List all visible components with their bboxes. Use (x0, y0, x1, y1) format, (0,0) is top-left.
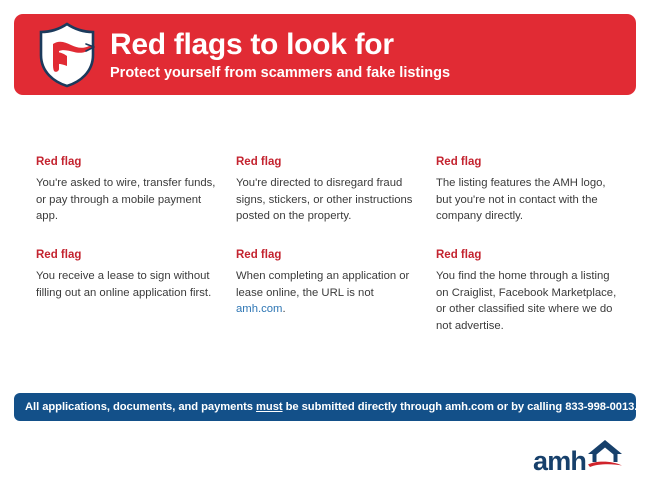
red-flag-grid: Red flag You're asked to wire, transfer … (36, 155, 626, 335)
red-flag-heading: Red flag (36, 248, 219, 263)
shield-flag-icon (36, 22, 98, 88)
red-flag-item-4: Red flag You receive a lease to sign wit… (36, 248, 219, 335)
banner-text-block: Red flags to look for Protect yourself f… (110, 27, 450, 83)
red-flag-body: You find the home through a listing on C… (436, 268, 619, 335)
red-flag-item-3: Red flag The listing features the AMH lo… (436, 155, 619, 225)
page-title: Red flags to look for (110, 29, 450, 61)
red-flag-heading: Red flag (36, 155, 219, 170)
house-roof-icon (586, 437, 624, 474)
header-banner: Red flags to look for Protect yourself f… (14, 14, 636, 95)
red-flag-body: You're asked to wire, transfer funds, or… (36, 175, 219, 225)
footer-text-start: All applications, documents, and payment… (25, 401, 256, 413)
red-flag-item-1: Red flag You're asked to wire, transfer … (36, 155, 219, 225)
red-flag-body: When completing an application or lease … (236, 268, 419, 318)
red-flag-heading: Red flag (236, 155, 419, 170)
red-flag-item-2: Red flag You're directed to disregard fr… (236, 155, 419, 225)
amh-wordmark: amh (533, 448, 586, 475)
red-flag-body: You're directed to disregard fraud signs… (236, 175, 419, 225)
red-flag-body-text-start: When completing an application or lease … (236, 270, 409, 299)
red-flag-item-5: Red flag When completing an application … (236, 248, 419, 335)
page-subtitle: Protect yourself from scammers and fake … (110, 65, 450, 82)
footer-notice-bar: All applications, documents, and payment… (14, 393, 636, 421)
footer-emphasis: must (256, 401, 283, 413)
red-flag-body-text-end: . (282, 303, 285, 315)
red-flag-heading: Red flag (436, 248, 619, 263)
amh-logo: amh (533, 437, 628, 475)
red-flag-heading: Red flag (236, 248, 419, 263)
red-flag-body: The listing features the AMH logo, but y… (436, 175, 619, 225)
red-flag-heading: Red flag (436, 155, 619, 170)
footer-text-end: be submitted directly through amh.com or… (283, 401, 638, 413)
red-flag-item-6: Red flag You find the home through a lis… (436, 248, 619, 335)
amh-com-link[interactable]: amh.com (236, 303, 282, 315)
red-flag-body: You receive a lease to sign without fill… (36, 268, 219, 301)
footer-notice-text: All applications, documents, and payment… (25, 401, 637, 413)
